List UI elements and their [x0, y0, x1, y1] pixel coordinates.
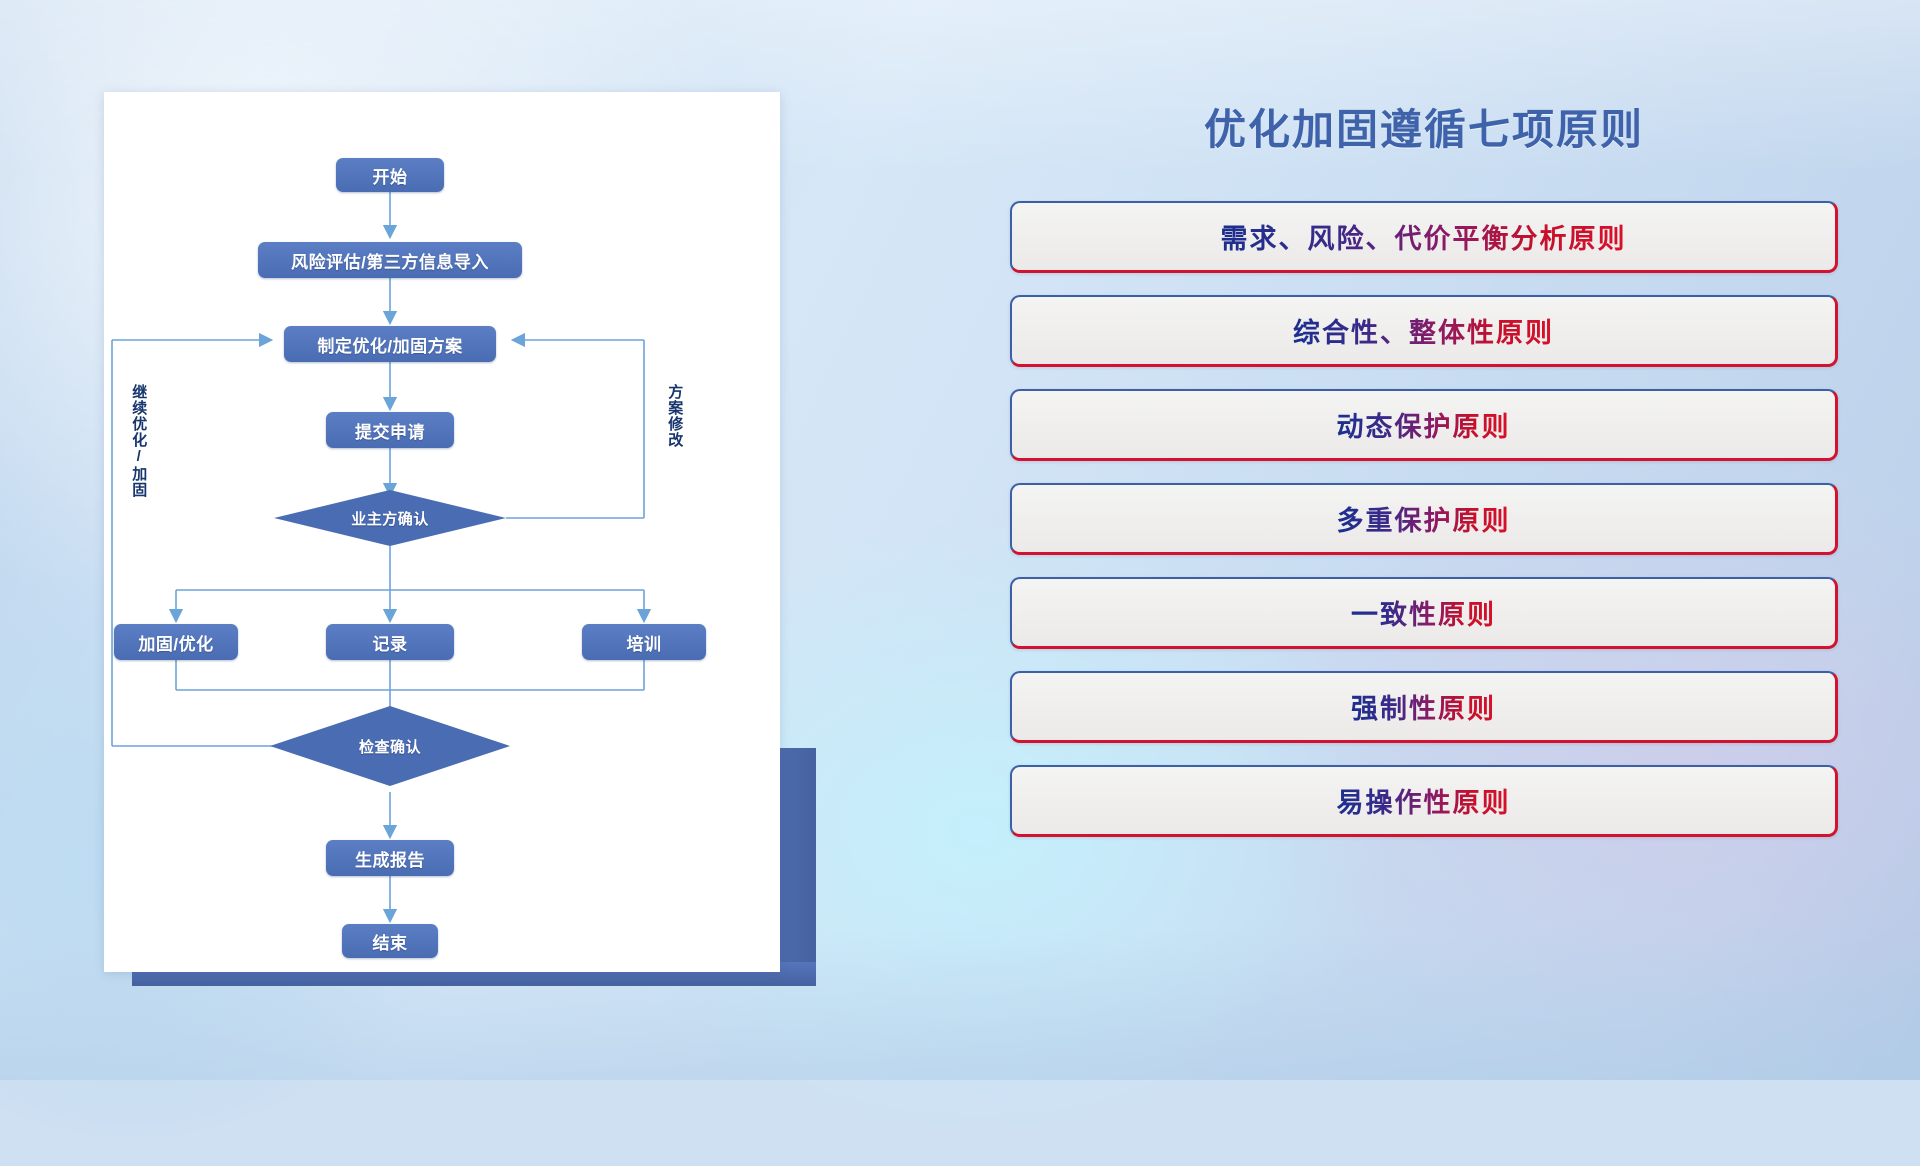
- principle-item-7-label: 易操作性原则: [1337, 781, 1511, 820]
- principles-panel: 优化加固遵循七项原则 需求、风险、代价平衡分析原则 综合性、整体性原则 动态保护…: [1010, 96, 1838, 837]
- flow-node-generate-report[interactable]: 生成报告: [326, 840, 454, 876]
- flow-node-plan-label: 制定优化/加固方案: [317, 332, 462, 357]
- principle-item-4[interactable]: 多重保护原则: [1010, 483, 1838, 555]
- flow-node-start[interactable]: 开始: [336, 158, 444, 192]
- flow-node-plan[interactable]: 制定优化/加固方案: [284, 326, 496, 362]
- principle-item-5[interactable]: 一致性原则: [1010, 577, 1838, 649]
- flow-node-record[interactable]: 记录: [326, 624, 454, 660]
- flow-node-training-label: 培训: [627, 630, 662, 655]
- principle-item-2[interactable]: 综合性、整体性原则: [1010, 295, 1838, 367]
- principle-item-7[interactable]: 易操作性原则: [1010, 765, 1838, 837]
- principle-item-4-label: 多重保护原则: [1337, 499, 1511, 538]
- flow-node-check-confirm-label: 检查确认: [359, 736, 421, 757]
- flow-node-risk-assessment[interactable]: 风险评估/第三方信息导入: [258, 242, 522, 278]
- flow-node-generate-report-label: 生成报告: [355, 846, 425, 871]
- flow-node-start-label: 开始: [373, 163, 408, 188]
- principle-item-6-label: 强制性原则: [1351, 687, 1496, 726]
- principle-item-5-label: 一致性原则: [1351, 593, 1496, 632]
- flow-node-owner-confirm[interactable]: 业主方确认: [304, 502, 476, 534]
- flow-edge-label-plan-revision: 方案修改: [666, 384, 682, 504]
- flowchart-canvas: 开始 风险评估/第三方信息导入 制定优化/加固方案 提交申请 业主方确认 加固/…: [104, 92, 780, 972]
- flow-node-record-label: 记录: [373, 630, 408, 655]
- flow-node-risk-assessment-label: 风险评估/第三方信息导入: [291, 248, 489, 273]
- flow-node-submit-application-label: 提交申请: [355, 418, 425, 443]
- principle-item-2-label: 综合性、整体性原则: [1293, 311, 1554, 350]
- flow-node-training[interactable]: 培训: [582, 624, 706, 660]
- flowchart-card: 开始 风险评估/第三方信息导入 制定优化/加固方案 提交申请 业主方确认 加固/…: [104, 92, 780, 972]
- principles-list: 需求、风险、代价平衡分析原则 综合性、整体性原则 动态保护原则 多重保护原则 一…: [1010, 201, 1838, 837]
- flow-node-reinforce[interactable]: 加固/优化: [114, 624, 238, 660]
- flow-node-end[interactable]: 结束: [342, 924, 438, 958]
- flow-node-submit-application[interactable]: 提交申请: [326, 412, 454, 448]
- principle-item-3-label: 动态保护原则: [1337, 405, 1511, 444]
- page-title: 优化加固遵循七项原则: [1010, 96, 1838, 157]
- flow-node-owner-confirm-label: 业主方确认: [351, 508, 429, 529]
- principle-item-3[interactable]: 动态保护原则: [1010, 389, 1838, 461]
- principle-item-1-label: 需求、风险、代价平衡分析原则: [1221, 217, 1627, 256]
- flow-edge-label-continue-optimize: 继续优化/加固: [130, 384, 146, 544]
- principle-item-6[interactable]: 强制性原则: [1010, 671, 1838, 743]
- flow-node-reinforce-label: 加固/优化: [138, 630, 213, 655]
- flow-node-check-confirm[interactable]: 检查确认: [310, 730, 470, 762]
- flow-node-end-label: 结束: [373, 929, 408, 954]
- principle-item-1[interactable]: 需求、风险、代价平衡分析原则: [1010, 201, 1838, 273]
